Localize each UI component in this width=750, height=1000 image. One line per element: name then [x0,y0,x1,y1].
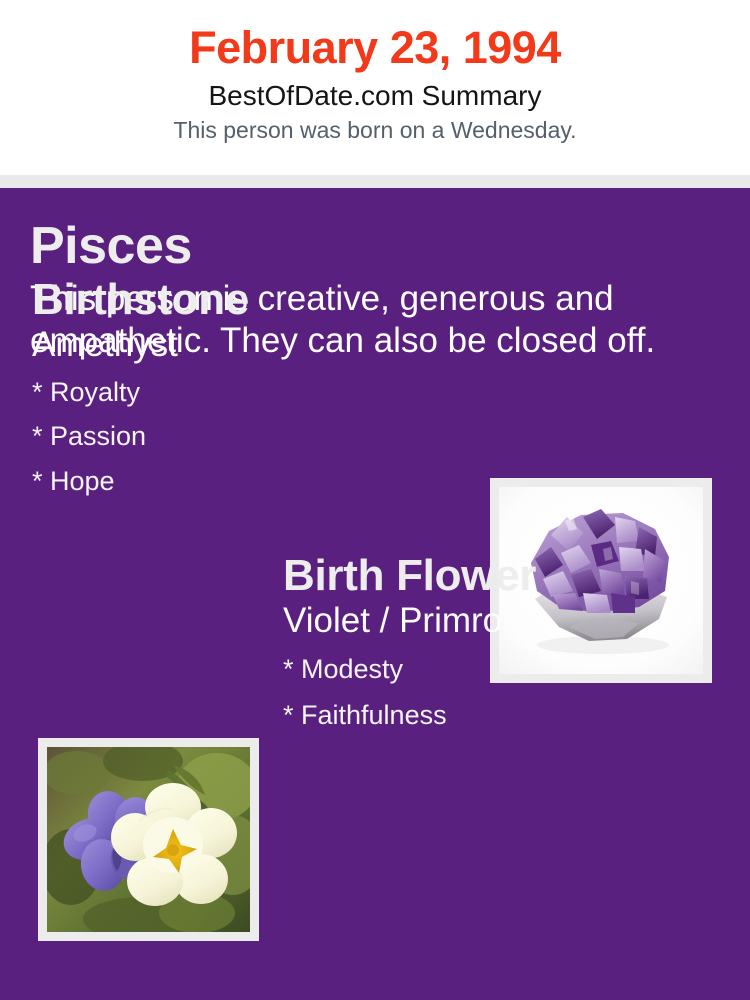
list-item: * Modesty [283,646,733,692]
birthstone-section: Birthstone Amethyst * Royalty * Passion … [32,276,472,503]
list-item: * Hope [32,459,472,504]
zodiac-sign-name: Pisces [30,218,710,274]
birth-flower-section: Birth Flower Violet / Primrose * Modesty… [283,552,733,739]
birth-flower-photo-frame [38,738,259,941]
header-divider [0,175,750,188]
birthstone-heading: Birthstone [32,276,472,324]
list-item: * Faithfulness [283,692,733,738]
birth-day-note: This person was born on a Wednesday. [0,111,750,144]
birth-flower-photo [47,747,250,932]
birth-flower-trait-list: * Modesty * Faithfulness [283,640,733,739]
header: February 23, 1994 BestOfDate.com Summary… [0,0,750,175]
page-title: February 23, 1994 [0,0,750,73]
violet-primrose-flower-icon [47,747,250,932]
list-item: * Royalty [32,370,472,415]
summary-page: February 23, 1994 BestOfDate.com Summary… [0,0,750,1000]
birthstone-name: Amethyst [32,324,472,364]
site-summary-label: BestOfDate.com Summary [0,73,750,111]
birth-flower-heading: Birth Flower [283,552,733,600]
birth-flower-name: Violet / Primrose [283,600,733,640]
list-item: * Passion [32,414,472,459]
birthstone-trait-list: * Royalty * Passion * Hope [32,364,472,504]
